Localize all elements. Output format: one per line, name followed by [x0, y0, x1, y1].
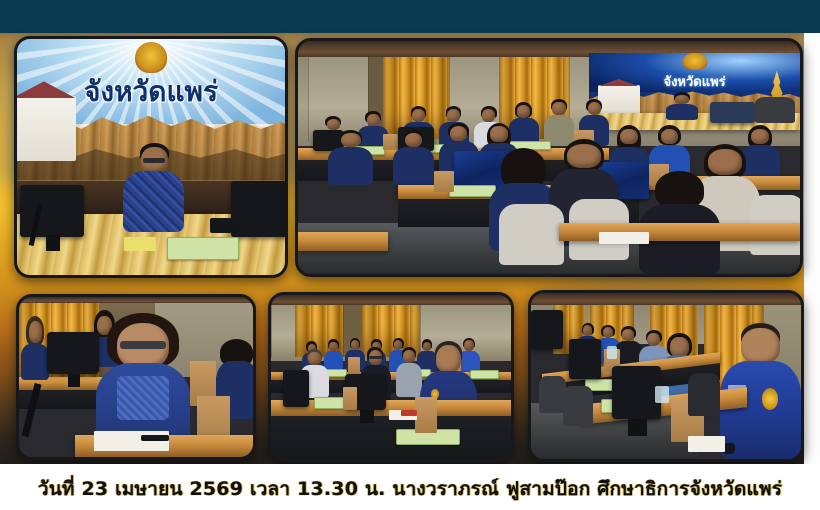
right-white-strip: [804, 33, 820, 470]
monitor-right: [231, 181, 285, 238]
body: [393, 147, 433, 185]
head: [329, 342, 337, 352]
scene-conference-room: จังหวัดแพร่: [298, 41, 800, 274]
paper-bag-bc-a: [348, 357, 360, 373]
glasses-icon: [120, 341, 167, 349]
stage-chair: [755, 97, 795, 123]
head: [412, 109, 425, 122]
head: [341, 133, 361, 148]
monitor-bc-a-stand: [360, 410, 374, 423]
photo-bottom-center: [268, 292, 514, 462]
head: [403, 350, 415, 363]
head: [552, 102, 565, 115]
person-bg-1: [21, 316, 49, 380]
head: [447, 109, 460, 122]
ceiling: [271, 295, 511, 305]
person-bc-r2-3: [396, 347, 422, 396]
head: [351, 340, 359, 350]
stage-monitor: [710, 102, 755, 123]
chair-br-a: [539, 376, 566, 413]
person-stage-chair: [664, 92, 699, 120]
water-bottle-2: [607, 346, 618, 359]
top-navy-band: [0, 0, 820, 33]
blouse-pattern: [117, 376, 169, 420]
wall-panel-1: [271, 305, 297, 357]
note-paper: [124, 237, 156, 251]
monitor-bg: [47, 332, 98, 374]
head: [588, 102, 601, 115]
chair-fg-1: [499, 204, 564, 265]
head: [670, 337, 688, 357]
person-r2-1: [328, 130, 373, 186]
monitor-br-b: [569, 339, 601, 379]
head: [450, 126, 468, 142]
head: [620, 129, 638, 145]
water-bottle: [655, 386, 669, 403]
collage-page: จังหวัดแพร่: [0, 0, 820, 510]
head: [327, 119, 340, 130]
phone: [210, 218, 234, 232]
paper-fg: [599, 232, 649, 244]
head: [583, 325, 593, 335]
photo-top-left: จังหวัดแพร่: [14, 36, 288, 278]
nameplate: [167, 237, 239, 260]
monitor-bg-stand: [68, 374, 80, 387]
head: [741, 328, 780, 363]
led-province-seal-icon: [682, 53, 707, 70]
head: [367, 114, 380, 126]
head: [482, 109, 495, 122]
person-main-woman: [96, 313, 190, 451]
province-seal-icon: [135, 42, 167, 73]
head: [308, 352, 321, 365]
head: [436, 345, 461, 373]
paper-bag-bc-d: [415, 397, 437, 433]
scene-attendees-right: [531, 293, 801, 459]
banner-province-text: จังหวัดแพร่: [17, 70, 285, 114]
head: [603, 327, 614, 338]
caption-band: วันที่ 23 เมษายน 2569 เวลา 13.30 น. นางว…: [0, 464, 820, 510]
body: [21, 344, 49, 380]
caption-text: วันที่ 23 เมษายน 2569 เวลา 13.30 น. นางว…: [0, 474, 820, 504]
hair: [655, 171, 703, 208]
red-marker: [401, 410, 418, 417]
photo-top-right: จังหวัดแพร่: [295, 38, 803, 277]
photo-bottom-right: [528, 290, 804, 462]
body: [328, 147, 373, 185]
paper-bag-r2-a: [434, 171, 454, 192]
body: [396, 363, 422, 397]
head: [517, 105, 530, 117]
head: [751, 129, 769, 145]
head: [661, 129, 679, 145]
monitor-br-c: [612, 366, 661, 419]
monitor-br-a: [531, 310, 563, 350]
head: [622, 329, 634, 341]
scene-chairman: จังหวัดแพร่: [17, 39, 285, 275]
head: [29, 321, 42, 343]
chair-br-b: [563, 386, 593, 426]
head: [675, 95, 689, 104]
body: [666, 104, 698, 120]
desk-row-2-front: [271, 416, 511, 459]
paper-bag-bc-c: [343, 387, 357, 410]
monitor-left-stand: [46, 235, 59, 252]
monitor-bc-b: [283, 370, 309, 406]
monitor-br-c-stand: [628, 419, 647, 436]
monitor-left: [20, 185, 84, 237]
head: [490, 126, 508, 142]
person-r2-2: [393, 130, 433, 186]
scene-woman-portrait: [19, 297, 253, 457]
glasses-icon: [143, 158, 165, 163]
led-province-text: จังหวัดแพร่: [589, 71, 800, 92]
head: [647, 333, 660, 347]
glasses-icon: [369, 356, 381, 359]
head: [567, 144, 601, 168]
pen: [141, 435, 169, 441]
chair-br-c: [688, 373, 720, 416]
scene-attendees-center: [271, 295, 511, 459]
desk-foreground-left: [298, 232, 388, 251]
paper-br: [688, 436, 726, 453]
photo-bottom-left: [16, 294, 256, 460]
head: [405, 133, 423, 148]
person-chairman: [119, 143, 189, 242]
body: [123, 171, 184, 232]
ceiling: [531, 293, 801, 305]
desk-foreground: [559, 223, 800, 242]
